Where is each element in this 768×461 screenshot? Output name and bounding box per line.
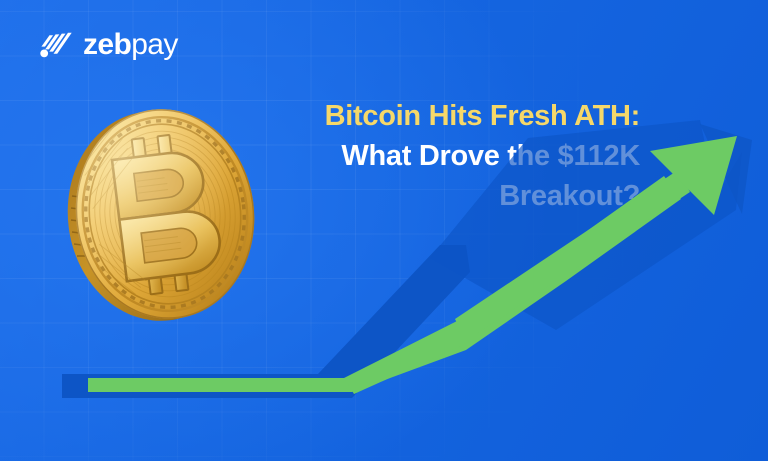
page-title: Bitcoin Hits Fresh ATH: What Drove the $… xyxy=(220,96,640,216)
headline-line-3: Breakout? xyxy=(220,176,640,216)
zebpay-stripes-icon xyxy=(40,32,74,58)
headline-line-1: Bitcoin Hits Fresh ATH: xyxy=(220,96,640,136)
zebpay-logo[interactable]: zebpay xyxy=(40,30,178,60)
arrow-head xyxy=(650,136,737,215)
zebpay-wordmark: zebpay xyxy=(83,30,178,60)
headline-line-2: What Drove the $112K xyxy=(220,136,640,176)
wordmark-pay: pay xyxy=(131,28,178,61)
wordmark-zeb: zeb xyxy=(83,28,131,61)
promo-banner: zebpay xyxy=(0,0,768,461)
